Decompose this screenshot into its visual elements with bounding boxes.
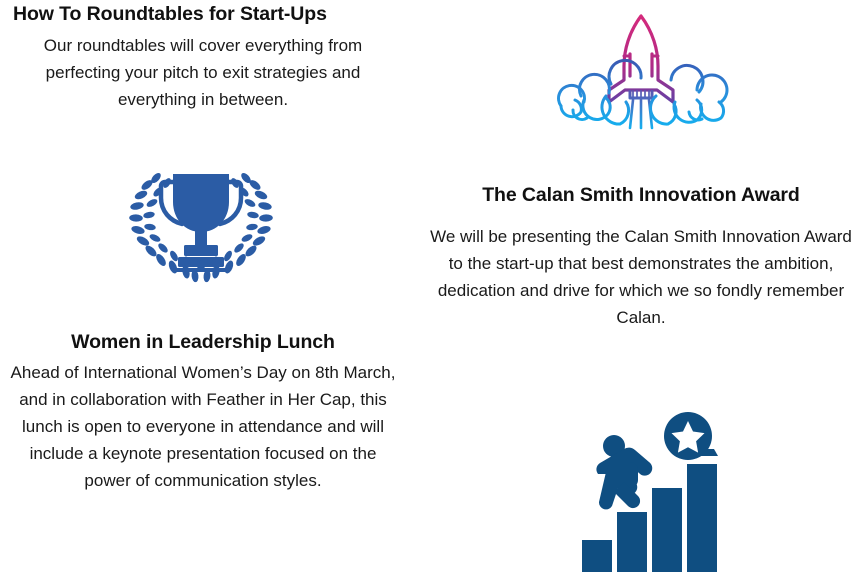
section-women-leadership-lunch: Women in Leadership Lunch Ahead of Inter… <box>0 330 406 494</box>
award-body: We will be presenting the Calan Smith In… <box>427 207 855 331</box>
women-lunch-body: Ahead of International Women’s Day on 8t… <box>0 354 406 494</box>
section-growth-illustration <box>427 412 855 576</box>
trophy-laurel-icon <box>125 160 277 290</box>
growth-achievement-icon <box>580 412 724 574</box>
women-lunch-heading: Women in Leadership Lunch <box>0 330 406 354</box>
roundtables-body: Our roundtables will cover everything fr… <box>0 26 406 113</box>
rocket-launch-icon <box>551 10 731 132</box>
roundtables-heading: How To Roundtables for Start-Ups <box>0 2 406 26</box>
section-innovation-award: The Calan Smith Innovation Award We will… <box>427 183 855 331</box>
section-trophy-illustration <box>0 160 406 300</box>
award-heading: The Calan Smith Innovation Award <box>427 183 855 207</box>
section-roundtables: How To Roundtables for Start-Ups Our rou… <box>0 2 406 113</box>
section-rocket-illustration <box>427 0 855 150</box>
